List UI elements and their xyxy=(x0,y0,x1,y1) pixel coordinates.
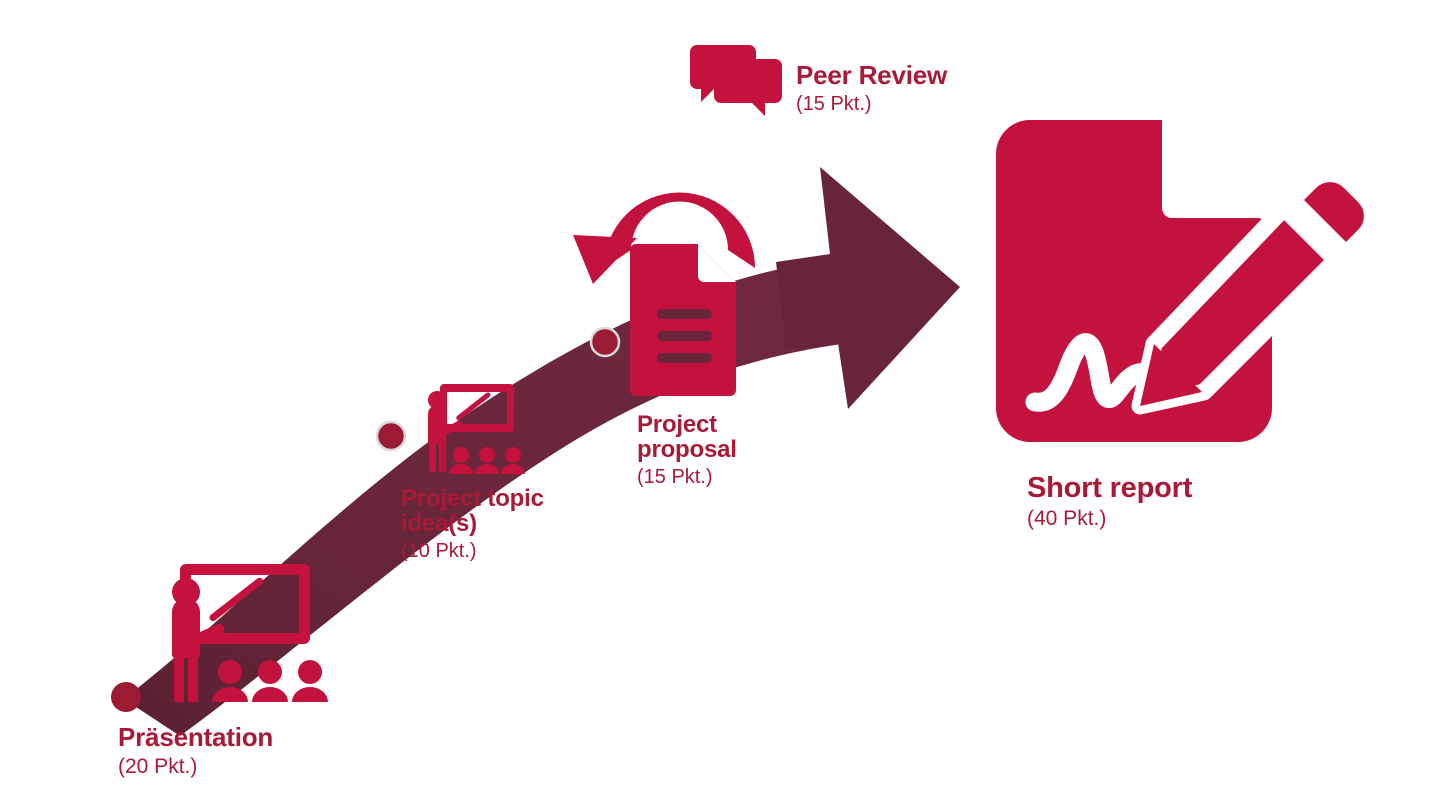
audience-head-2 xyxy=(258,660,282,684)
audience-row-small xyxy=(449,447,525,474)
label-peer-review: Peer Review (15 Pkt.) xyxy=(796,62,947,116)
document-text-line-3 xyxy=(657,353,712,363)
label-project-topic-ideas-title: Project topic idea(s) xyxy=(401,486,544,537)
document-text-line-1 xyxy=(657,309,712,319)
label-short-report: Short report (40 Pkt.) xyxy=(1027,473,1192,531)
label-peer-review-title: Peer Review xyxy=(796,62,947,90)
rising-curved-arrow-head xyxy=(776,167,960,409)
audience-head-3 xyxy=(298,660,322,684)
audience-head-small-2 xyxy=(479,447,495,463)
label-praesentation-title: Präsentation xyxy=(118,724,273,752)
label-praesentation-points: (20 Pkt.) xyxy=(118,755,273,779)
label-project-proposal: Project proposal (15 Pkt.) xyxy=(637,412,737,489)
document-text-line-2 xyxy=(657,331,712,341)
audience-row xyxy=(212,660,328,702)
report-folded-corner xyxy=(1162,120,1272,218)
timeline-start-dot xyxy=(111,682,141,712)
audience-body-2 xyxy=(252,687,288,702)
rising-curved-arrow xyxy=(124,167,960,736)
presenter-leg-left xyxy=(174,650,184,702)
label-project-topic-ideas: Project topic idea(s) (10 Pkt.) xyxy=(401,486,544,563)
label-peer-review-points: (15 Pkt.) xyxy=(796,93,947,116)
presenter-leg-right xyxy=(188,650,198,702)
timeline-marker-2 xyxy=(591,328,619,356)
document-signature-pencil-icon xyxy=(996,120,1372,442)
timeline-marker-1 xyxy=(377,422,405,450)
label-project-topic-ideas-points: (10 Pkt.) xyxy=(401,540,544,563)
speech-bubbles-icon xyxy=(690,45,782,116)
presenter-leg-right-small xyxy=(439,438,446,472)
audience-head-1 xyxy=(218,660,242,684)
label-short-report-title: Short report xyxy=(1027,473,1192,504)
audience-body-3 xyxy=(292,687,328,702)
presenter-leg-left-small xyxy=(429,438,436,472)
speech-bubble-front xyxy=(714,59,782,116)
audience-head-small-3 xyxy=(505,447,521,463)
infographic-canvas: Präsentation (20 Pkt.) Project topic ide… xyxy=(0,0,1440,810)
label-short-report-points: (40 Pkt.) xyxy=(1027,507,1192,531)
label-praesentation: Präsentation (20 Pkt.) xyxy=(118,724,273,779)
circular-revision-arrowhead xyxy=(573,235,637,284)
document-icon xyxy=(630,244,736,396)
label-project-proposal-points: (15 Pkt.) xyxy=(637,466,737,489)
audience-head-small-1 xyxy=(453,447,469,463)
infographic-illustration xyxy=(0,0,1440,810)
label-project-proposal-title: Project proposal xyxy=(637,412,737,463)
